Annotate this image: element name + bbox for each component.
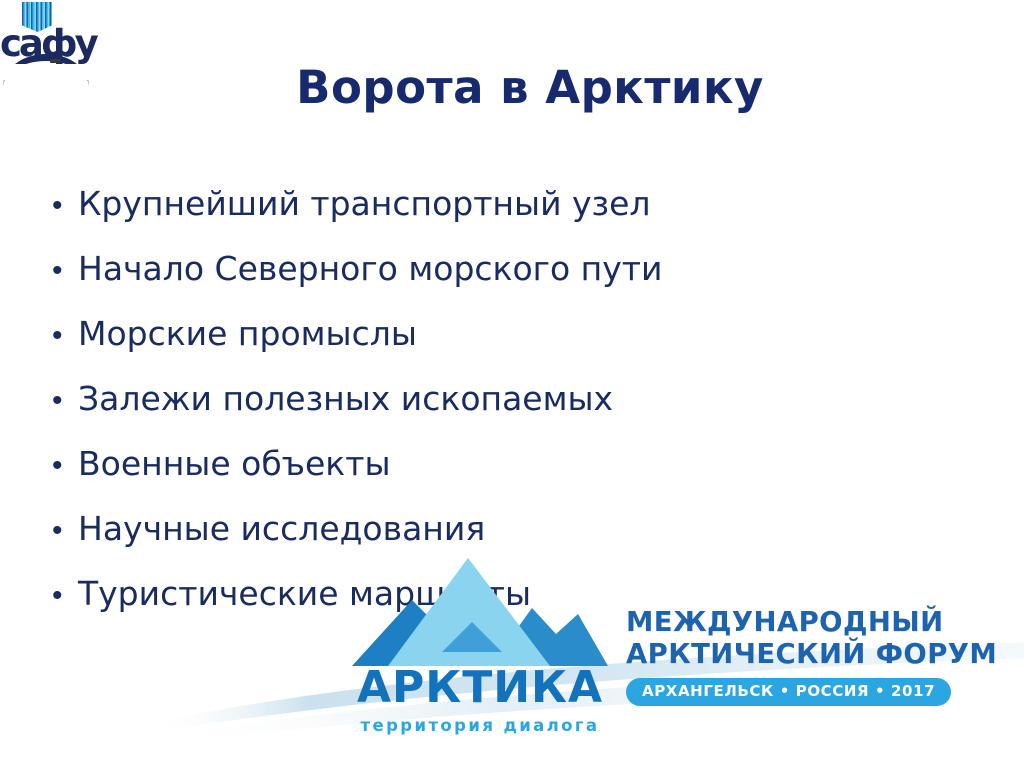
arktika-wordmark: АРКТИКА [330, 664, 630, 712]
list-item-label: Крупнейший транспортный узел [78, 185, 650, 223]
list-item-label: Морские промыслы [78, 315, 417, 353]
list-item: • Крупнейший транспортный узел [52, 185, 952, 250]
arctic-forum-logo: АРКТИКА территория диалога МЕЖДУНАРОДНЫЙ… [330, 556, 970, 756]
arktika-logo: АРКТИКА территория диалога [330, 556, 630, 756]
forum-line-1: МЕЖДУНАРОДНЫЙ [626, 606, 970, 638]
bullet-marker-icon: • [52, 516, 78, 546]
bullet-marker-icon: • [52, 581, 78, 611]
list-item: • Военные объекты [52, 445, 952, 510]
bullet-marker-icon: • [52, 321, 78, 351]
list-item-label: Научные исследования [78, 510, 485, 548]
slide-title: Ворота в Арктику [120, 62, 940, 114]
list-item-label: Начало Северного морского пути [78, 250, 662, 288]
logo-tick [50, 59, 60, 63]
logo-arc-mask [0, 64, 104, 80]
bullet-marker-icon: • [52, 191, 78, 221]
list-item: • Залежи полезных ископаемых [52, 380, 952, 445]
forum-line-2: АРКТИЧЕСКИЙ ФОРУМ [626, 638, 970, 670]
bullet-marker-icon: • [52, 451, 78, 481]
mountain-icon [350, 556, 610, 668]
list-item-label: Военные объекты [78, 445, 391, 483]
forum-location-badge: АРХАНГЕЛЬСК • РОССИЯ • 2017 [626, 678, 951, 706]
bullet-marker-icon: • [52, 386, 78, 416]
list-item: • Начало Северного морского пути [52, 250, 952, 315]
forum-name-block: МЕЖДУНАРОДНЫЙ АРКТИЧЕСКИЙ ФОРУМ АРХАНГЕЛ… [626, 606, 970, 706]
arktika-subtitle: территория диалога [330, 716, 630, 736]
bullet-marker-icon: • [52, 256, 78, 286]
list-item: • Морские промыслы [52, 315, 952, 380]
list-item-label: Залежи полезных ископаемых [78, 380, 613, 418]
university-logo: сафу [0, 2, 104, 74]
presentation-slide: сафу Ворота в Арктику • Крупнейший транс… [0, 0, 1024, 767]
